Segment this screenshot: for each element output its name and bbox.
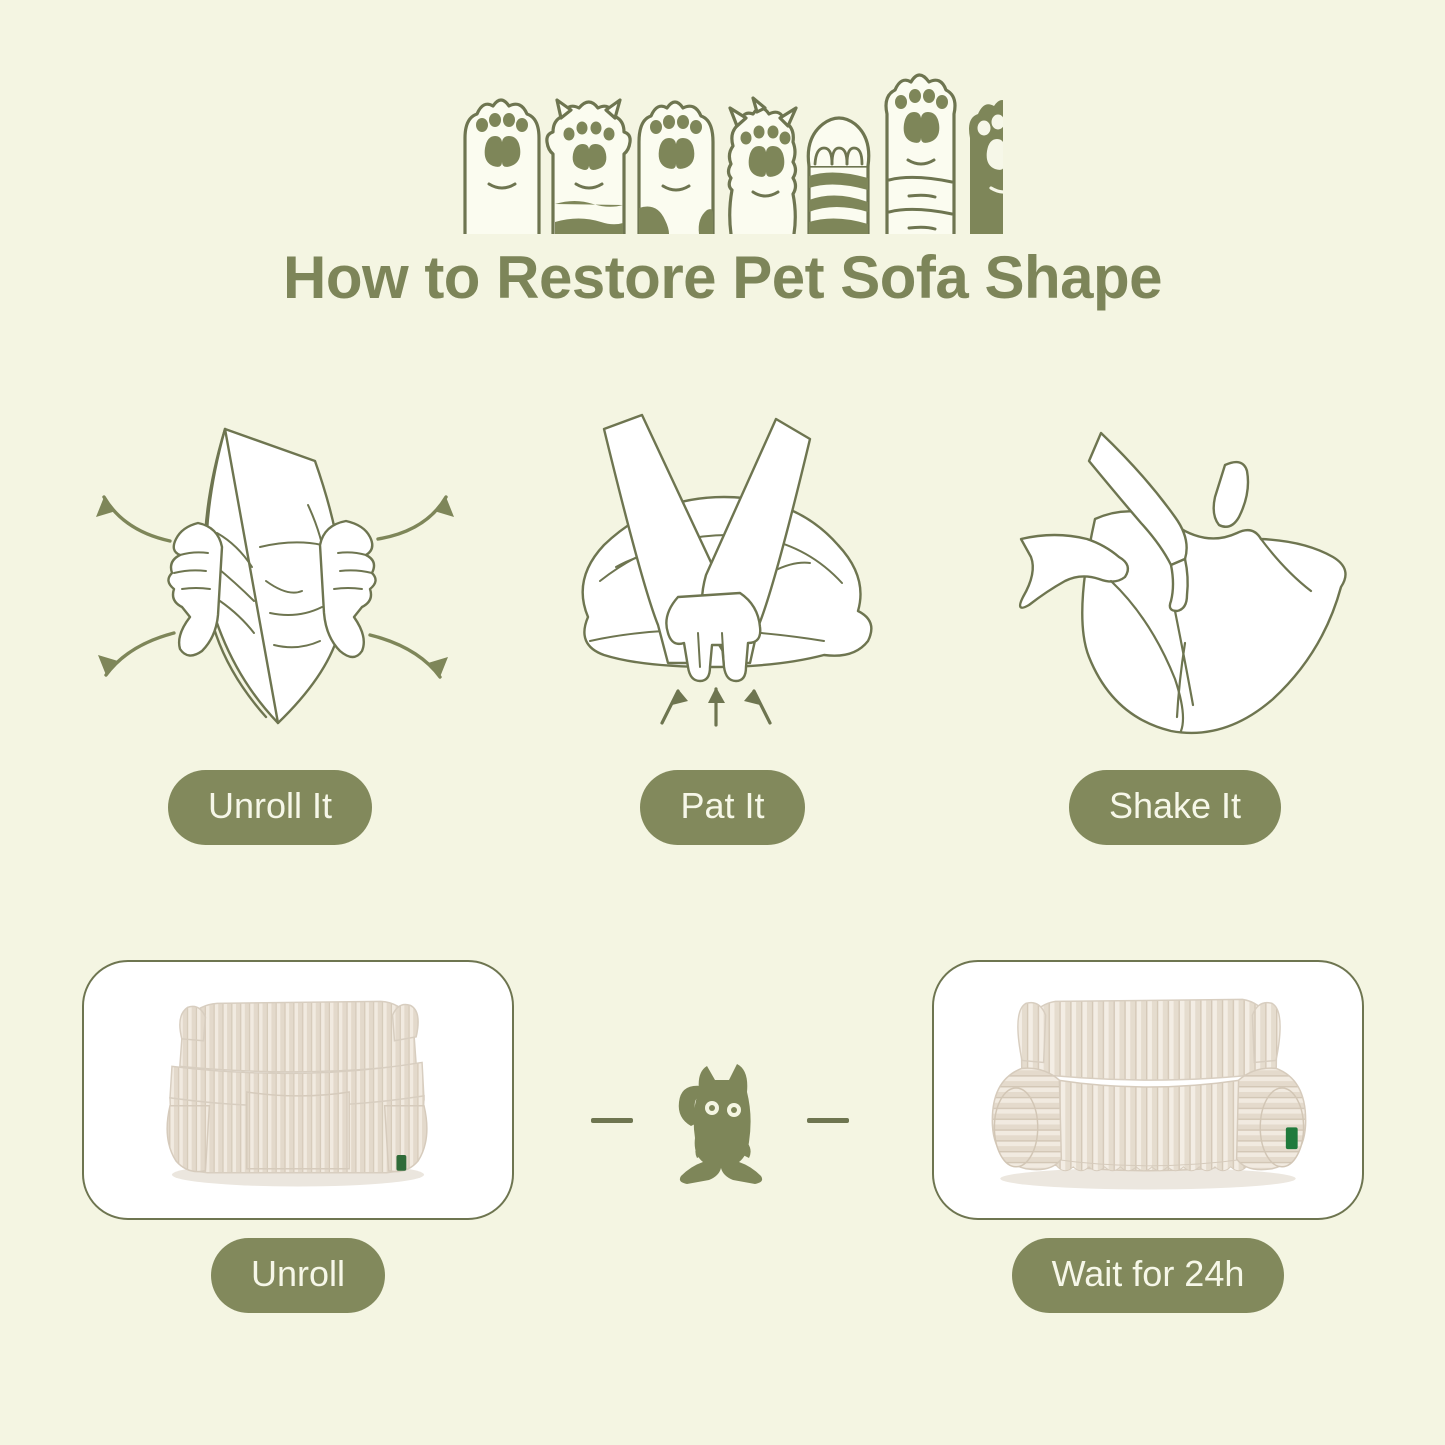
- paw-6: [886, 75, 955, 234]
- divider-dash-right: [807, 1118, 849, 1123]
- step-label-shake-it: Shake It: [1069, 770, 1281, 845]
- pat-illustration: [538, 400, 908, 740]
- paw-7: [969, 100, 1003, 234]
- compare-label-wait-24h: Wait for 24h: [1012, 1238, 1285, 1313]
- paw-3: [639, 102, 713, 234]
- photo-card-after: [932, 960, 1364, 1220]
- step-pat-it: Pat It: [523, 400, 923, 845]
- unroll-illustration: [70, 400, 470, 740]
- divider-dash-left: [591, 1118, 633, 1123]
- step-shake-it: Shake It: [975, 400, 1375, 845]
- step-label-unroll-it: Unroll It: [168, 770, 372, 845]
- cat-paws-banner: [0, 62, 1445, 234]
- paw-5: [808, 118, 868, 234]
- before-after-row: Unroll Wait for 24h: [0, 960, 1445, 1300]
- expanded-sofa: [992, 999, 1305, 1170]
- shake-illustration: [985, 400, 1365, 740]
- sitting-cat-icon: [655, 1050, 785, 1190]
- arrow-up-left: [104, 497, 170, 541]
- compare-label-after-wrap: Wait for 24h: [932, 1238, 1364, 1313]
- paw-1: [465, 100, 539, 234]
- steps-row: Unroll It: [0, 400, 1445, 845]
- paw-4: [728, 98, 796, 234]
- step-unroll-it: Unroll It: [70, 400, 470, 845]
- arrow-up-right: [378, 497, 446, 539]
- arrow-down-right: [370, 635, 440, 677]
- infographic-page: How to Restore Pet Sofa Shape: [0, 0, 1445, 1445]
- compressed-bed: [167, 1001, 427, 1172]
- arrow-down-left: [106, 633, 174, 675]
- compare-label-before-wrap: Unroll: [82, 1238, 514, 1313]
- compare-divider: [520, 1020, 920, 1220]
- compare-label-unroll: Unroll: [211, 1238, 385, 1313]
- step-label-pat-it: Pat It: [640, 770, 804, 845]
- photo-card-before: [82, 960, 514, 1220]
- paw-2: [546, 100, 629, 234]
- page-title: How to Restore Pet Sofa Shape: [0, 245, 1445, 311]
